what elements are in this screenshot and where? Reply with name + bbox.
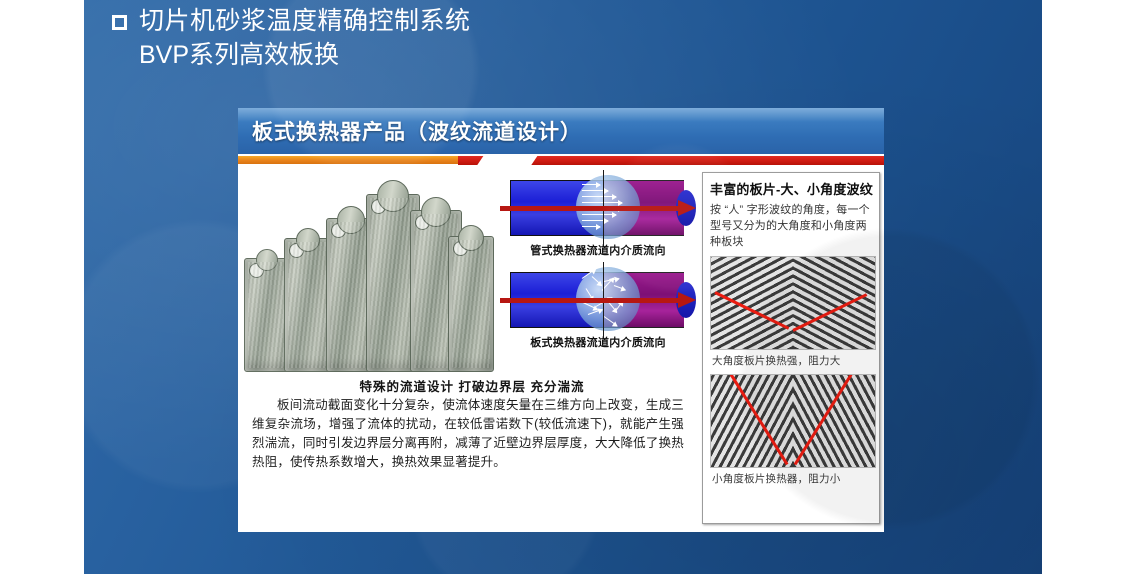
figure-banner: 板式换热器产品（波纹流道设计） <box>238 108 884 154</box>
plate-port-icon <box>296 228 320 252</box>
plate-port-icon <box>377 180 409 212</box>
plate-item <box>284 238 332 372</box>
slide-subtitle: BVP系列高效板换 <box>139 40 471 70</box>
plate-port-icon <box>421 197 451 227</box>
wide-angle-overlay-line <box>711 257 875 349</box>
card-title: 丰富的板片-大、小角度波纹 <box>710 179 872 198</box>
figure-body-paragraph: 板间流动截面变化十分复杂，使流体速度矢量在三维方向上改变，生成三维复杂流场，增强… <box>252 396 684 472</box>
plate-port-icon <box>458 225 484 251</box>
divider-white-slash <box>473 154 542 168</box>
chevron-pattern-wide-angle <box>710 256 876 350</box>
chevron-caption-wide: 大角度板片换热强，阻力大 <box>712 353 872 368</box>
screenshot-page: 切片机砂浆温度精确控制系统 BVP系列高效板换 板式换热器产品（波纹流道设计） <box>0 0 1125 574</box>
figure-body: 管式换热器流道内介质流向 <box>238 168 884 532</box>
slide-title-line-1: 切片机砂浆温度精确控制系统 <box>112 6 471 36</box>
figure-body-heading: 特殊的流道设计 打破边界层 充分湍流 <box>252 376 692 395</box>
flow-direction-arrow <box>500 204 696 212</box>
slide-title-block: 切片机砂浆温度精确控制系统 BVP系列高效板换 <box>112 6 471 70</box>
plate-port-icon <box>256 249 278 271</box>
page-title: 切片机砂浆温度精确控制系统 <box>139 6 471 36</box>
plate-angle-card: 丰富的板片-大、小角度波纹 按 “人” 字形波纹的角度，每一个型号又分为的大角度… <box>702 172 880 524</box>
chevron-caption-narrow: 小角度板片换热器，阻力小 <box>712 471 872 486</box>
flow-diagram-tubular <box>500 174 696 240</box>
plate-port-icon <box>337 206 365 234</box>
flow-direction-arrow <box>500 296 696 304</box>
plate-collage-photo <box>242 172 494 372</box>
presentation-slide: 切片机砂浆温度精确控制系统 BVP系列高效板换 板式换热器产品（波纹流道设计） <box>84 0 1042 574</box>
product-figure: 板式换热器产品（波纹流道设计） <box>238 108 884 532</box>
narrow-angle-overlay-line <box>711 375 875 467</box>
flow-caption-tubular: 管式换热器流道内介质流向 <box>500 242 696 258</box>
plate-item <box>448 236 494 372</box>
card-description: 按 “人” 字形波纹的角度，每一个型号又分为的大角度和小角度两种板块 <box>710 202 872 250</box>
flow-diagram-plate <box>500 266 696 332</box>
banner-divider-rule <box>238 154 884 168</box>
chevron-pattern-narrow-angle <box>710 374 876 468</box>
square-bullet-icon <box>112 15 127 30</box>
flow-diagram-group: 管式换热器流道内介质流向 <box>500 174 696 366</box>
flow-caption-plate: 板式换热器流道内介质流向 <box>500 334 696 350</box>
figure-banner-title: 板式换热器产品（波纹流道设计） <box>252 116 582 146</box>
